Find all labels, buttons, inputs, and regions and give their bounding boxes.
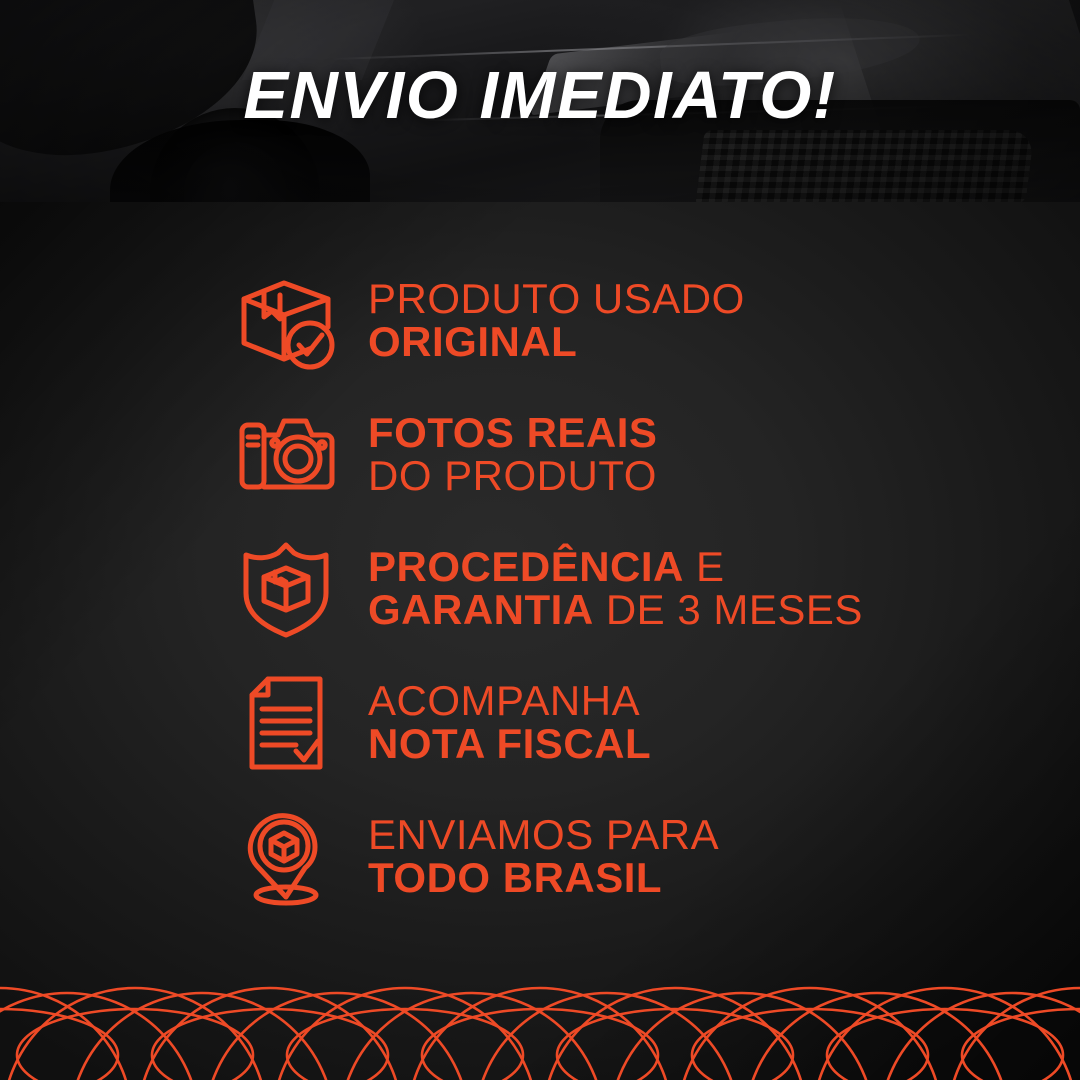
package-box-check-icon [226,269,346,373]
feature-row-original: PRODUTO USADO ORIGINAL [0,254,1080,388]
feature-row-warranty: PROCEDÊNCIA E GARANTIA DE 3 MESES [0,522,1080,656]
feature-row-shipping: ENVIAMOS PARA TODO BRASIL [0,790,1080,924]
header-banner: ENVIO IMEDIATO! [0,0,1080,202]
feature-list: PRODUTO USADO ORIGINAL FOTOS REAIS DO [0,202,1080,932]
promo-banner: ENVIO IMEDIATO! PRODUTO USADO ORIGINAL [0,0,1080,1080]
camera-icon [226,403,346,507]
feature-line-2-bold: GARANTIA [368,586,594,633]
feature-line-1-light: E [684,543,725,590]
map-pin-package-icon [226,805,346,909]
feature-text-photos: FOTOS REAIS DO PRODUTO [368,412,657,498]
feature-text-original: PRODUTO USADO ORIGINAL [368,278,745,364]
feature-line-2: DO PRODUTO [368,455,657,498]
feature-line-2-light: DE 3 MESES [594,586,863,633]
feature-line-2: ORIGINAL [368,321,745,364]
feature-line-2: NOTA FISCAL [368,723,651,766]
shield-box-icon [226,537,346,641]
feature-text-shipping: ENVIAMOS PARA TODO BRASIL [368,814,719,900]
feature-line-1: ENVIAMOS PARA [368,814,719,857]
feature-line-1-bold: PROCEDÊNCIA [368,543,684,590]
feature-row-invoice: ACOMPANHA NOTA FISCAL [0,656,1080,790]
invoice-document-check-icon [226,671,346,775]
feature-line-2: GARANTIA DE 3 MESES [368,589,863,632]
feature-text-warranty: PROCEDÊNCIA E GARANTIA DE 3 MESES [368,546,863,632]
feature-row-photos: FOTOS REAIS DO PRODUTO [0,388,1080,522]
ellipse-lattice-svg [0,920,1080,1080]
feature-line-1: ACOMPANHA [368,680,651,723]
feature-text-invoice: ACOMPANHA NOTA FISCAL [368,680,651,766]
footer-ornament-pattern [0,920,1080,1080]
feature-line-1: PRODUTO USADO [368,278,745,321]
feature-line-2: TODO BRASIL [368,857,719,900]
feature-line-1: PROCEDÊNCIA E [368,546,863,589]
page-title: ENVIO IMEDIATO! [0,62,1080,129]
feature-line-1: FOTOS REAIS [368,412,657,455]
